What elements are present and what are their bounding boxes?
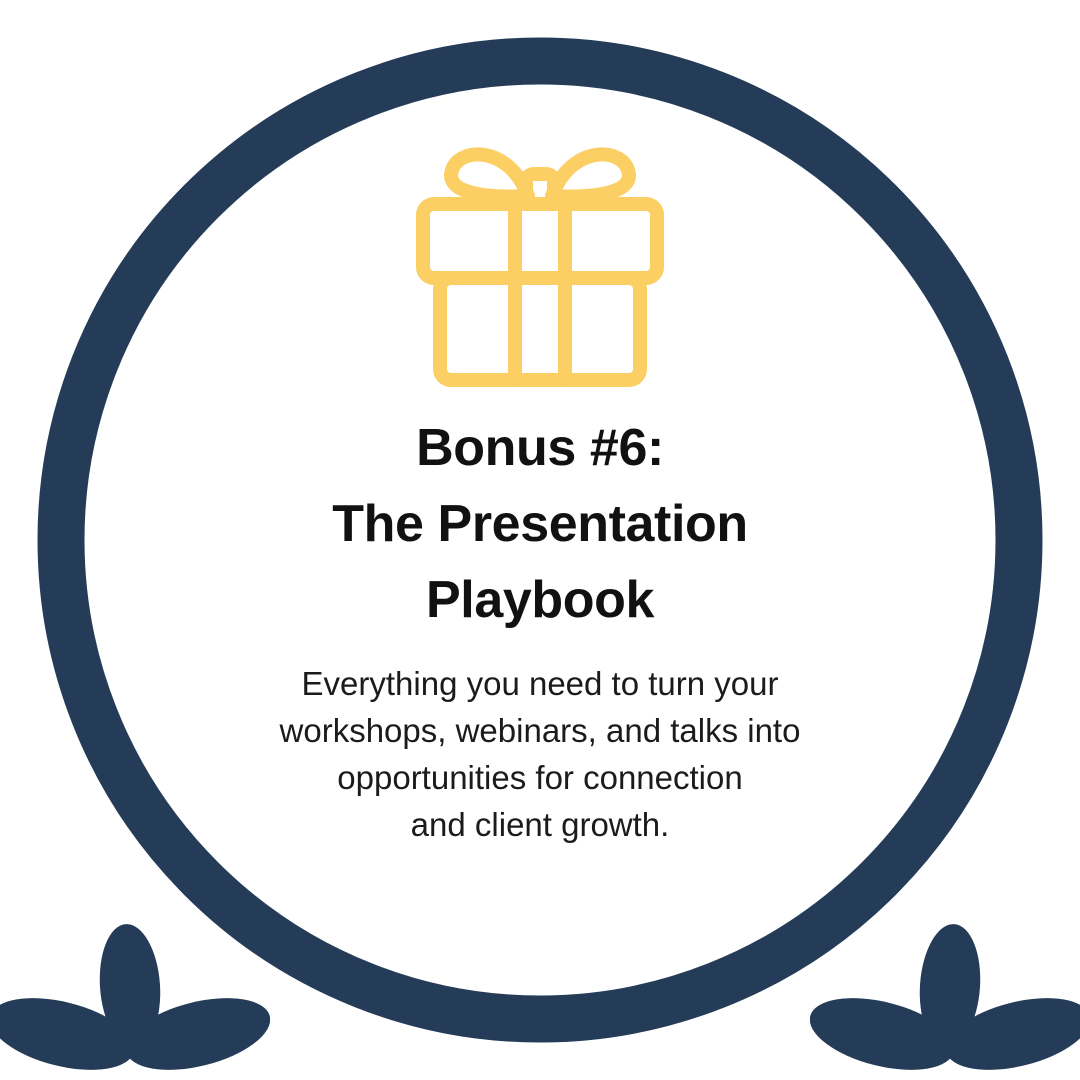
page-subtitle-line-3: opportunities for connection (240, 754, 840, 801)
gift-bow-loop-left (451, 154, 528, 196)
page-title-line-1: Bonus #6: (220, 410, 860, 486)
page-subtitle: Everything you need to turn your worksho… (240, 638, 840, 848)
page-subtitle-line-1: Everything you need to turn your (240, 660, 840, 707)
page-subtitle-line-2: workshops, webinars, and talks into (240, 707, 840, 754)
bonus-card: Bonus #6: The Presentation Playbook Ever… (0, 0, 1080, 1080)
gift-bow-loop-right (552, 154, 629, 196)
page-title-line-2: The Presentation (220, 486, 860, 562)
gift-body (440, 278, 640, 380)
gift-box-icon (410, 126, 670, 388)
page-title: Bonus #6: The Presentation Playbook (220, 388, 860, 638)
page-subtitle-line-4: and client growth. (240, 801, 840, 848)
gift-lid (423, 204, 657, 278)
card-content: Bonus #6: The Presentation Playbook Ever… (0, 0, 1080, 1080)
page-title-line-3: Playbook (220, 562, 860, 638)
